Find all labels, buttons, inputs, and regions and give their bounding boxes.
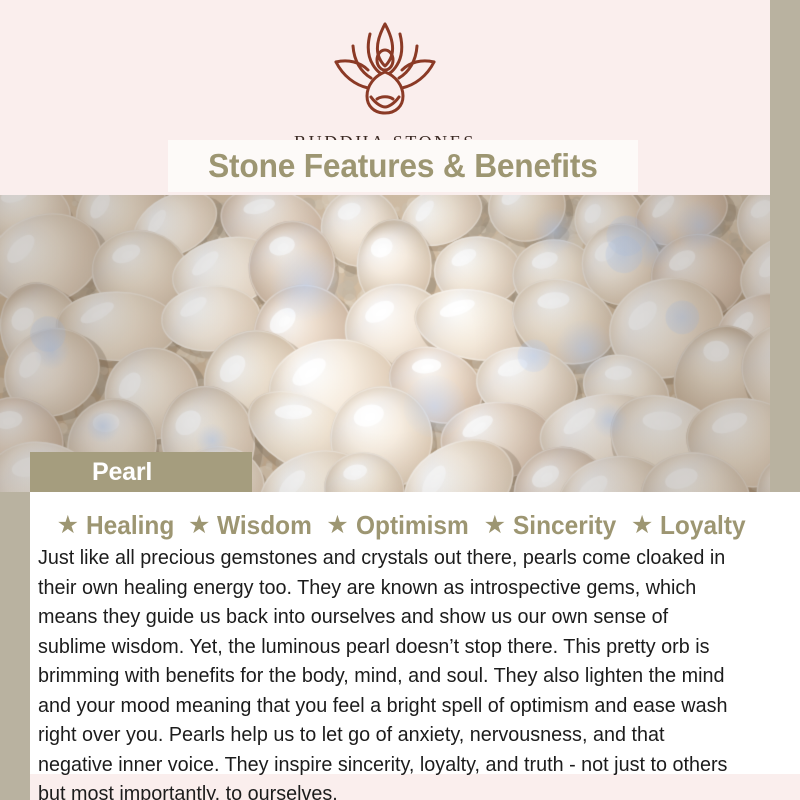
brand-logo: BUDDHA STONES xyxy=(0,18,770,153)
stone-description: Just like all precious gemstones and cry… xyxy=(38,543,741,800)
pearl-photo-canvas xyxy=(0,195,770,492)
star-icon: ★ xyxy=(188,513,210,538)
frame-accent-left xyxy=(0,492,30,800)
benefit-item: ★Loyalty xyxy=(623,510,751,541)
lotus-meditation-icon xyxy=(310,18,460,128)
benefit-label: Healing xyxy=(86,510,174,541)
star-icon: ★ xyxy=(484,513,506,538)
benefit-item: ★Healing xyxy=(49,510,180,541)
stone-photo xyxy=(0,195,770,492)
title-banner: Stone Features & Benefits xyxy=(168,140,638,192)
benefit-label: Wisdom xyxy=(217,510,312,541)
benefit-label: Loyalty xyxy=(660,510,746,541)
stone-benefits-poster: BUDDHA STONES Stone Features & Benefits … xyxy=(0,0,800,800)
stone-name: Pearl xyxy=(92,458,152,487)
benefit-label: Sincerity xyxy=(513,510,616,541)
benefit-item: ★Wisdom xyxy=(180,510,318,541)
benefit-item: ★Optimism xyxy=(318,510,475,541)
star-icon: ★ xyxy=(326,513,348,538)
stone-name-bar: Pearl xyxy=(30,452,252,492)
benefits-list: ★Healing★Wisdom★Optimism★Sincerity★Loyal… xyxy=(30,510,770,541)
benefit-item: ★Sincerity xyxy=(476,510,623,541)
star-icon: ★ xyxy=(631,513,653,538)
benefit-label: Optimism xyxy=(356,510,469,541)
star-icon: ★ xyxy=(57,513,79,538)
page-title: Stone Features & Benefits xyxy=(208,147,598,185)
